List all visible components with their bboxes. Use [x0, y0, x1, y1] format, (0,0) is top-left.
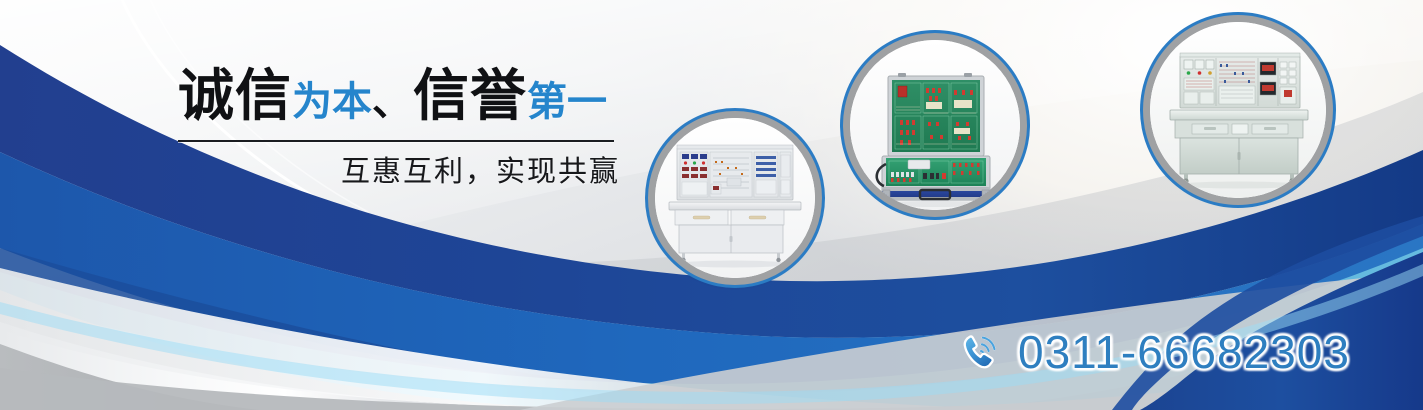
product-circle-3[interactable]	[1150, 22, 1326, 198]
headline-part-1: 诚信	[178, 64, 292, 127]
title-divider	[178, 140, 614, 142]
product-photo-training-case	[850, 40, 1020, 210]
product-circle-1[interactable]	[655, 118, 815, 278]
product-photo-workbench-white	[655, 118, 815, 278]
phone-number[interactable]: 0311-66682303	[1018, 327, 1350, 377]
contact-phone[interactable]: 0311-66682303	[958, 327, 1350, 377]
promo-banner: 诚信为本、信誉第一 互惠互利，实现共赢	[0, 0, 1423, 410]
page-title: 诚信为本、信誉第一	[178, 66, 620, 132]
headline-part-4: 信誉	[413, 64, 527, 127]
product-circle-2[interactable]	[850, 40, 1020, 210]
headline-part-5: 第一	[527, 80, 607, 124]
phone-call-icon	[958, 329, 1004, 375]
product-photo-workbench-green	[1150, 22, 1326, 198]
headline-part-3: 、	[372, 80, 413, 124]
headline-part-2: 为本	[292, 80, 372, 124]
subtitle: 互惠互利，实现共赢	[178, 155, 620, 189]
slogan-block: 诚信为本、信誉第一 互惠互利，实现共赢	[178, 66, 620, 189]
